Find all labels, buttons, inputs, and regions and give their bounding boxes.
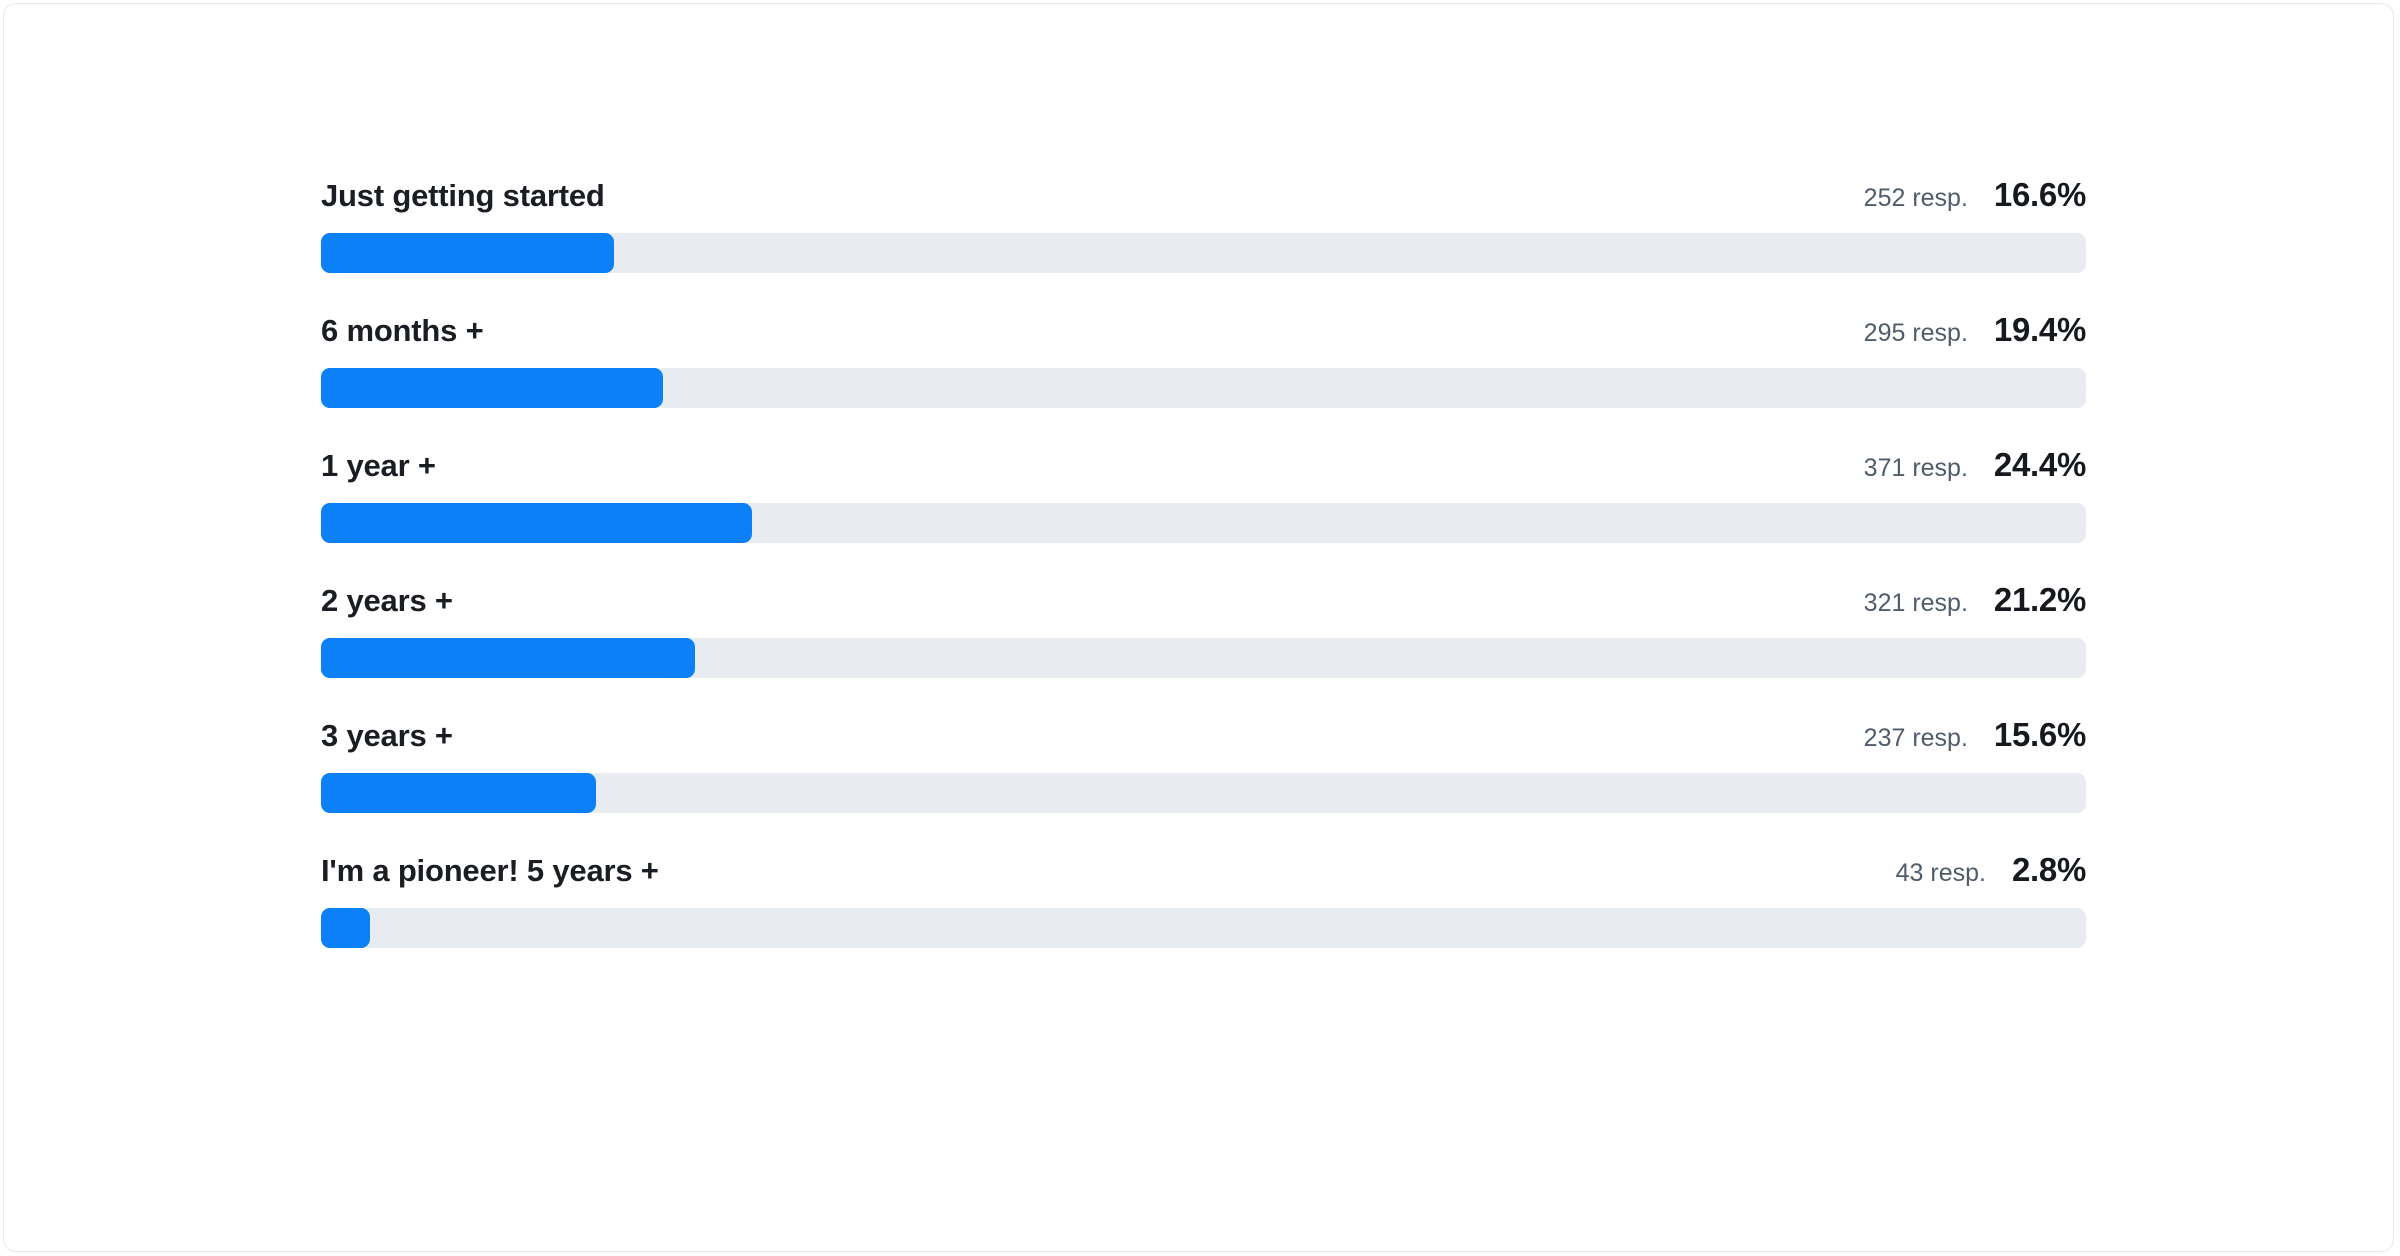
chart-row-header: 6 months + 295 resp. 19.4% bbox=[321, 311, 2086, 355]
chart-row-response-count: 43 resp. bbox=[1896, 859, 1986, 888]
chart-row-response-count: 237 resp. bbox=[1864, 724, 1968, 753]
chart-row-meta: 237 resp. 15.6% bbox=[1864, 716, 2086, 754]
chart-row-header: I'm a pioneer! 5 years + 43 resp. 2.8% bbox=[321, 851, 2086, 895]
chart-row-bar-track bbox=[321, 638, 2086, 678]
chart-row-percent: 16.6% bbox=[1994, 176, 2086, 214]
chart-row: 6 months + 295 resp. 19.4% bbox=[321, 311, 2086, 408]
chart-row-meta: 371 resp. 24.4% bbox=[1864, 446, 2086, 484]
chart-row: Just getting started 252 resp. 16.6% bbox=[321, 176, 2086, 273]
chart-row-meta: 295 resp. 19.4% bbox=[1864, 311, 2086, 349]
chart-row-meta: 321 resp. 21.2% bbox=[1864, 581, 2086, 619]
horizontal-bar-chart: Just getting started 252 resp. 16.6% 6 m… bbox=[321, 176, 2086, 948]
chart-row-header: 3 years + 237 resp. 15.6% bbox=[321, 716, 2086, 760]
chart-row-bar-track bbox=[321, 773, 2086, 813]
chart-row-label: 1 year + bbox=[321, 448, 436, 484]
chart-row-percent: 19.4% bbox=[1994, 311, 2086, 349]
chart-row-meta: 43 resp. 2.8% bbox=[1896, 851, 2086, 889]
chart-row: I'm a pioneer! 5 years + 43 resp. 2.8% bbox=[321, 851, 2086, 948]
chart-row-label: Just getting started bbox=[321, 178, 605, 214]
chart-row-header: 1 year + 371 resp. 24.4% bbox=[321, 446, 2086, 490]
chart-row-meta: 252 resp. 16.6% bbox=[1864, 176, 2086, 214]
chart-row-label: 3 years + bbox=[321, 718, 453, 754]
chart-row-percent: 15.6% bbox=[1994, 716, 2086, 754]
chart-row-header: 2 years + 321 resp. 21.2% bbox=[321, 581, 2086, 625]
chart-row-bar-track bbox=[321, 503, 2086, 543]
chart-row-label: I'm a pioneer! 5 years + bbox=[321, 853, 659, 889]
chart-row-label: 6 months + bbox=[321, 313, 484, 349]
chart-row-bar-track bbox=[321, 233, 2086, 273]
chart-row-header: Just getting started 252 resp. 16.6% bbox=[321, 176, 2086, 220]
chart-row-bar-fill bbox=[321, 233, 614, 273]
chart-row-percent: 24.4% bbox=[1994, 446, 2086, 484]
chart-row-response-count: 295 resp. bbox=[1864, 319, 1968, 348]
chart-row-bar-track bbox=[321, 368, 2086, 408]
chart-row: 2 years + 321 resp. 21.2% bbox=[321, 581, 2086, 678]
chart-row-bar-track bbox=[321, 908, 2086, 948]
chart-row-response-count: 371 resp. bbox=[1864, 454, 1968, 483]
chart-row-percent: 21.2% bbox=[1994, 581, 2086, 619]
chart-row: 1 year + 371 resp. 24.4% bbox=[321, 446, 2086, 543]
chart-row-response-count: 252 resp. bbox=[1864, 184, 1968, 213]
chart-row: 3 years + 237 resp. 15.6% bbox=[321, 716, 2086, 813]
chart-row-label: 2 years + bbox=[321, 583, 453, 619]
chart-row-percent: 2.8% bbox=[2012, 851, 2086, 889]
chart-row-response-count: 321 resp. bbox=[1864, 589, 1968, 618]
chart-row-bar-fill bbox=[321, 638, 695, 678]
chart-row-bar-fill bbox=[321, 773, 596, 813]
chart-row-bar-fill bbox=[321, 503, 752, 543]
chart-row-bar-fill bbox=[321, 368, 663, 408]
survey-results-card: Just getting started 252 resp. 16.6% 6 m… bbox=[3, 3, 2394, 1252]
chart-row-bar-fill bbox=[321, 908, 370, 948]
